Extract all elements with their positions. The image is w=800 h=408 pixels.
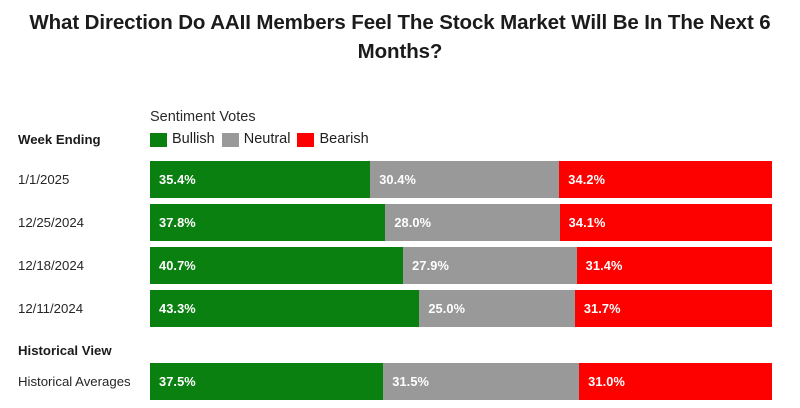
legend-entry-neutral: Neutral xyxy=(222,131,291,148)
bar-segment-value: 35.4% xyxy=(150,172,196,187)
stacked-bar: 43.3%25.0%31.7% xyxy=(150,290,772,327)
bar-segment-bearish: 31.4% xyxy=(577,247,772,284)
row-label: 12/25/2024 xyxy=(18,204,84,241)
table-row: 12/11/202443.3%25.0%31.7% xyxy=(0,290,800,327)
sentiment-survey-chart: What Direction Do AAII Members Feel The … xyxy=(0,0,800,408)
table-row: Historical Averages37.5%31.5%31.0% xyxy=(0,363,800,400)
legend-label-bullish: Bullish xyxy=(172,131,215,148)
bar-segment-bullish: 37.5% xyxy=(150,363,383,400)
bullish-swatch-icon xyxy=(150,133,167,147)
legend-heading: Sentiment Votes xyxy=(150,108,369,127)
bar-segment-value: 34.2% xyxy=(559,172,605,187)
legend: Sentiment Votes Bullish Neutral Bearish xyxy=(150,108,369,148)
legend-entry-bullish: Bullish xyxy=(150,131,215,148)
bar-segment-value: 25.0% xyxy=(419,301,465,316)
bar-segment-value: 30.4% xyxy=(370,172,416,187)
bar-segment-bearish: 34.2% xyxy=(559,161,772,198)
stacked-bar: 37.8%28.0%34.1% xyxy=(150,204,772,241)
bar-segment-bullish: 40.7% xyxy=(150,247,403,284)
row-label: Historical Averages xyxy=(18,363,131,400)
stacked-bar: 35.4%30.4%34.2% xyxy=(150,161,772,198)
table-row: 1/1/202535.4%30.4%34.2% xyxy=(0,161,800,198)
bar-segment-value: 28.0% xyxy=(385,215,431,230)
legend-entry-bearish: Bearish xyxy=(297,131,368,148)
bar-segment-neutral: 31.5% xyxy=(383,363,579,400)
stacked-bar: 40.7%27.9%31.4% xyxy=(150,247,772,284)
bar-segment-bearish: 34.1% xyxy=(560,204,772,241)
bar-segment-neutral: 28.0% xyxy=(385,204,559,241)
bar-segment-value: 37.8% xyxy=(150,215,196,230)
bar-segment-value: 31.0% xyxy=(579,374,625,389)
bar-segment-neutral: 30.4% xyxy=(370,161,559,198)
row-label: 12/11/2024 xyxy=(18,290,83,327)
bearish-swatch-icon xyxy=(297,133,314,147)
bar-segment-bullish: 37.8% xyxy=(150,204,385,241)
table-row: 12/18/202440.7%27.9%31.4% xyxy=(0,247,800,284)
legend-label-bearish: Bearish xyxy=(319,131,368,148)
bar-segment-neutral: 27.9% xyxy=(403,247,577,284)
bar-segment-bullish: 43.3% xyxy=(150,290,419,327)
bar-segment-value: 31.7% xyxy=(575,301,621,316)
legend-label-neutral: Neutral xyxy=(244,131,291,148)
bar-segment-value: 43.3% xyxy=(150,301,196,316)
row-label: 12/18/2024 xyxy=(18,247,84,284)
bar-segment-value: 31.4% xyxy=(577,258,623,273)
row-label: 1/1/2025 xyxy=(18,161,69,198)
bar-segment-value: 31.5% xyxy=(383,374,429,389)
stacked-bar: 37.5%31.5%31.0% xyxy=(150,363,772,400)
bar-segment-value: 40.7% xyxy=(150,258,196,273)
bar-segment-value: 34.1% xyxy=(560,215,606,230)
bar-segment-bearish: 31.0% xyxy=(579,363,772,400)
table-row: 12/25/202437.8%28.0%34.1% xyxy=(0,204,800,241)
week-ending-column-header: Week Ending xyxy=(18,132,101,147)
bar-segment-bearish: 31.7% xyxy=(575,290,772,327)
legend-items: Bullish Neutral Bearish xyxy=(150,131,369,148)
bar-segment-value: 37.5% xyxy=(150,374,196,389)
neutral-swatch-icon xyxy=(222,133,239,147)
bar-segment-value: 27.9% xyxy=(403,258,449,273)
page-title: What Direction Do AAII Members Feel The … xyxy=(0,8,800,66)
bar-segment-neutral: 25.0% xyxy=(419,290,575,327)
bar-segment-bullish: 35.4% xyxy=(150,161,370,198)
historical-view-header: Historical View xyxy=(18,343,112,358)
